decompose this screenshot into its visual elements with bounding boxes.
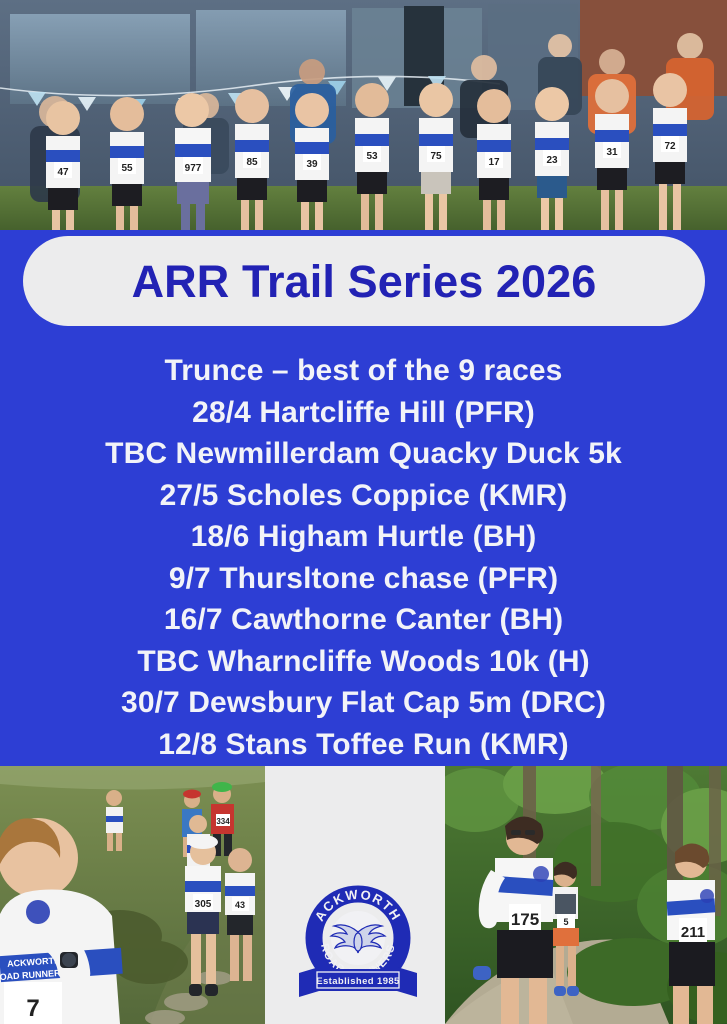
svg-text:17: 17 <box>488 157 500 168</box>
list-item: 12/8 Stans Toffee Run (KMR) <box>0 724 727 766</box>
poster-root: 47 55 977 85 39 53 75 17 23 31 72 ARR Tr… <box>0 0 727 1024</box>
list-item: 16/7 Cawthorne Canter (BH) <box>0 599 727 641</box>
list-item: 18/6 Higham Hurtle (BH) <box>0 516 727 558</box>
list-item: 28/4 Hartcliffe Hill (PFR) <box>0 392 727 434</box>
svg-text:211: 211 <box>681 924 705 941</box>
ackworth-road-runners-logo-icon: ACKWORTH ROAD RUNNERS Established 1985 <box>297 870 419 998</box>
list-item: 30/7 Dewsbury Flat Cap 5m (DRC) <box>0 682 727 724</box>
svg-text:55: 55 <box>121 163 133 174</box>
list-item: TBC Wharncliffe Woods 10k (H) <box>0 641 727 683</box>
svg-text:39: 39 <box>306 159 318 170</box>
page-title: ARR Trail Series 2026 <box>132 259 597 304</box>
list-item: Trunce – best of the 9 races <box>0 350 727 392</box>
svg-text:47: 47 <box>57 167 69 178</box>
svg-text:31: 31 <box>606 147 618 158</box>
list-item: TBC Newmillerdam Quacky Duck 5k <box>0 433 727 475</box>
svg-text:7: 7 <box>26 995 39 1022</box>
logo-banner-text: Established 1985 <box>316 976 400 987</box>
list-item: 27/5 Scholes Coppice (KMR) <box>0 475 727 517</box>
bottom-right-photo: 175 5 <box>445 766 727 1024</box>
svg-text:23: 23 <box>546 155 558 166</box>
title-card: ARR Trail Series 2026 <box>23 236 705 326</box>
bottom-left-photo-illustration: 334 305 <box>0 766 265 1024</box>
race-schedule-list: Trunce – best of the 9 races 28/4 Hartcl… <box>0 350 727 765</box>
club-logo: ACKWORTH ROAD RUNNERS Established 1985 <box>297 870 419 998</box>
svg-text:53: 53 <box>366 151 378 162</box>
svg-text:43: 43 <box>235 900 245 910</box>
svg-text:72: 72 <box>664 141 676 152</box>
svg-text:5: 5 <box>563 917 568 927</box>
svg-text:85: 85 <box>246 157 258 168</box>
list-item: 9/7 Thursltone chase (PFR) <box>0 558 727 600</box>
svg-text:75: 75 <box>430 151 442 162</box>
bottom-left-photo: 334 305 <box>0 766 265 1024</box>
svg-text:977: 977 <box>185 163 202 174</box>
svg-text:334: 334 <box>216 817 230 826</box>
top-photo-illustration: 47 55 977 85 39 53 75 17 23 31 72 <box>0 0 727 232</box>
bottom-right-photo-illustration: 175 5 <box>445 766 727 1024</box>
top-group-photo: 47 55 977 85 39 53 75 17 23 31 72 <box>0 0 727 232</box>
svg-text:305: 305 <box>195 899 212 910</box>
svg-text:175: 175 <box>511 910 539 929</box>
